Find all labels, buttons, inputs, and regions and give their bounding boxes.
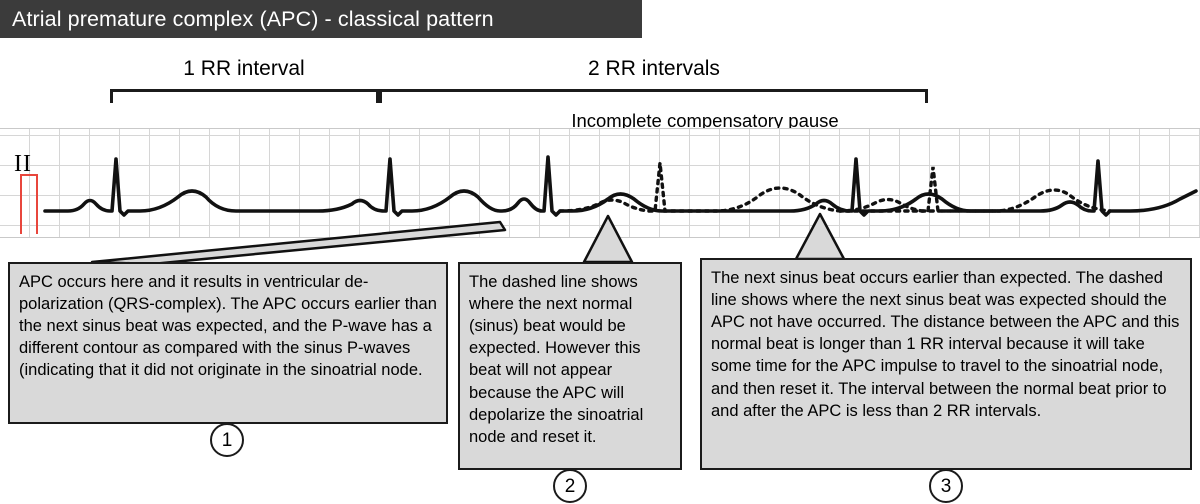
- page-title: Atrial premature complex (APC) - classic…: [0, 7, 494, 32]
- ecg-solid-trace: [45, 157, 1196, 215]
- annotation-badge-1: 1: [210, 423, 244, 457]
- title-bar: Atrial premature complex (APC) - classic…: [0, 0, 642, 38]
- ecg-trace: [0, 129, 1200, 237]
- annotation-badge-3: 3: [929, 469, 963, 503]
- annotation-box-2: The dashed line shows where the next nor…: [458, 262, 682, 470]
- rr-interval-2-label: 2 RR intervals: [380, 57, 928, 81]
- ecg-strip: II: [0, 128, 1200, 238]
- rr-interval-2-bracket: [379, 89, 928, 103]
- annotation-badge-2: 2: [553, 469, 587, 503]
- rr-interval-1-label: 1 RR interval: [110, 57, 378, 81]
- annotation-box-3: The next sinus beat occurs earlier than …: [700, 258, 1192, 470]
- annotation-box-1: APC occurs here and it results in ventri…: [8, 262, 448, 424]
- rr-interval-1-bracket: [110, 89, 379, 103]
- calibration-pulse-icon: [20, 174, 38, 234]
